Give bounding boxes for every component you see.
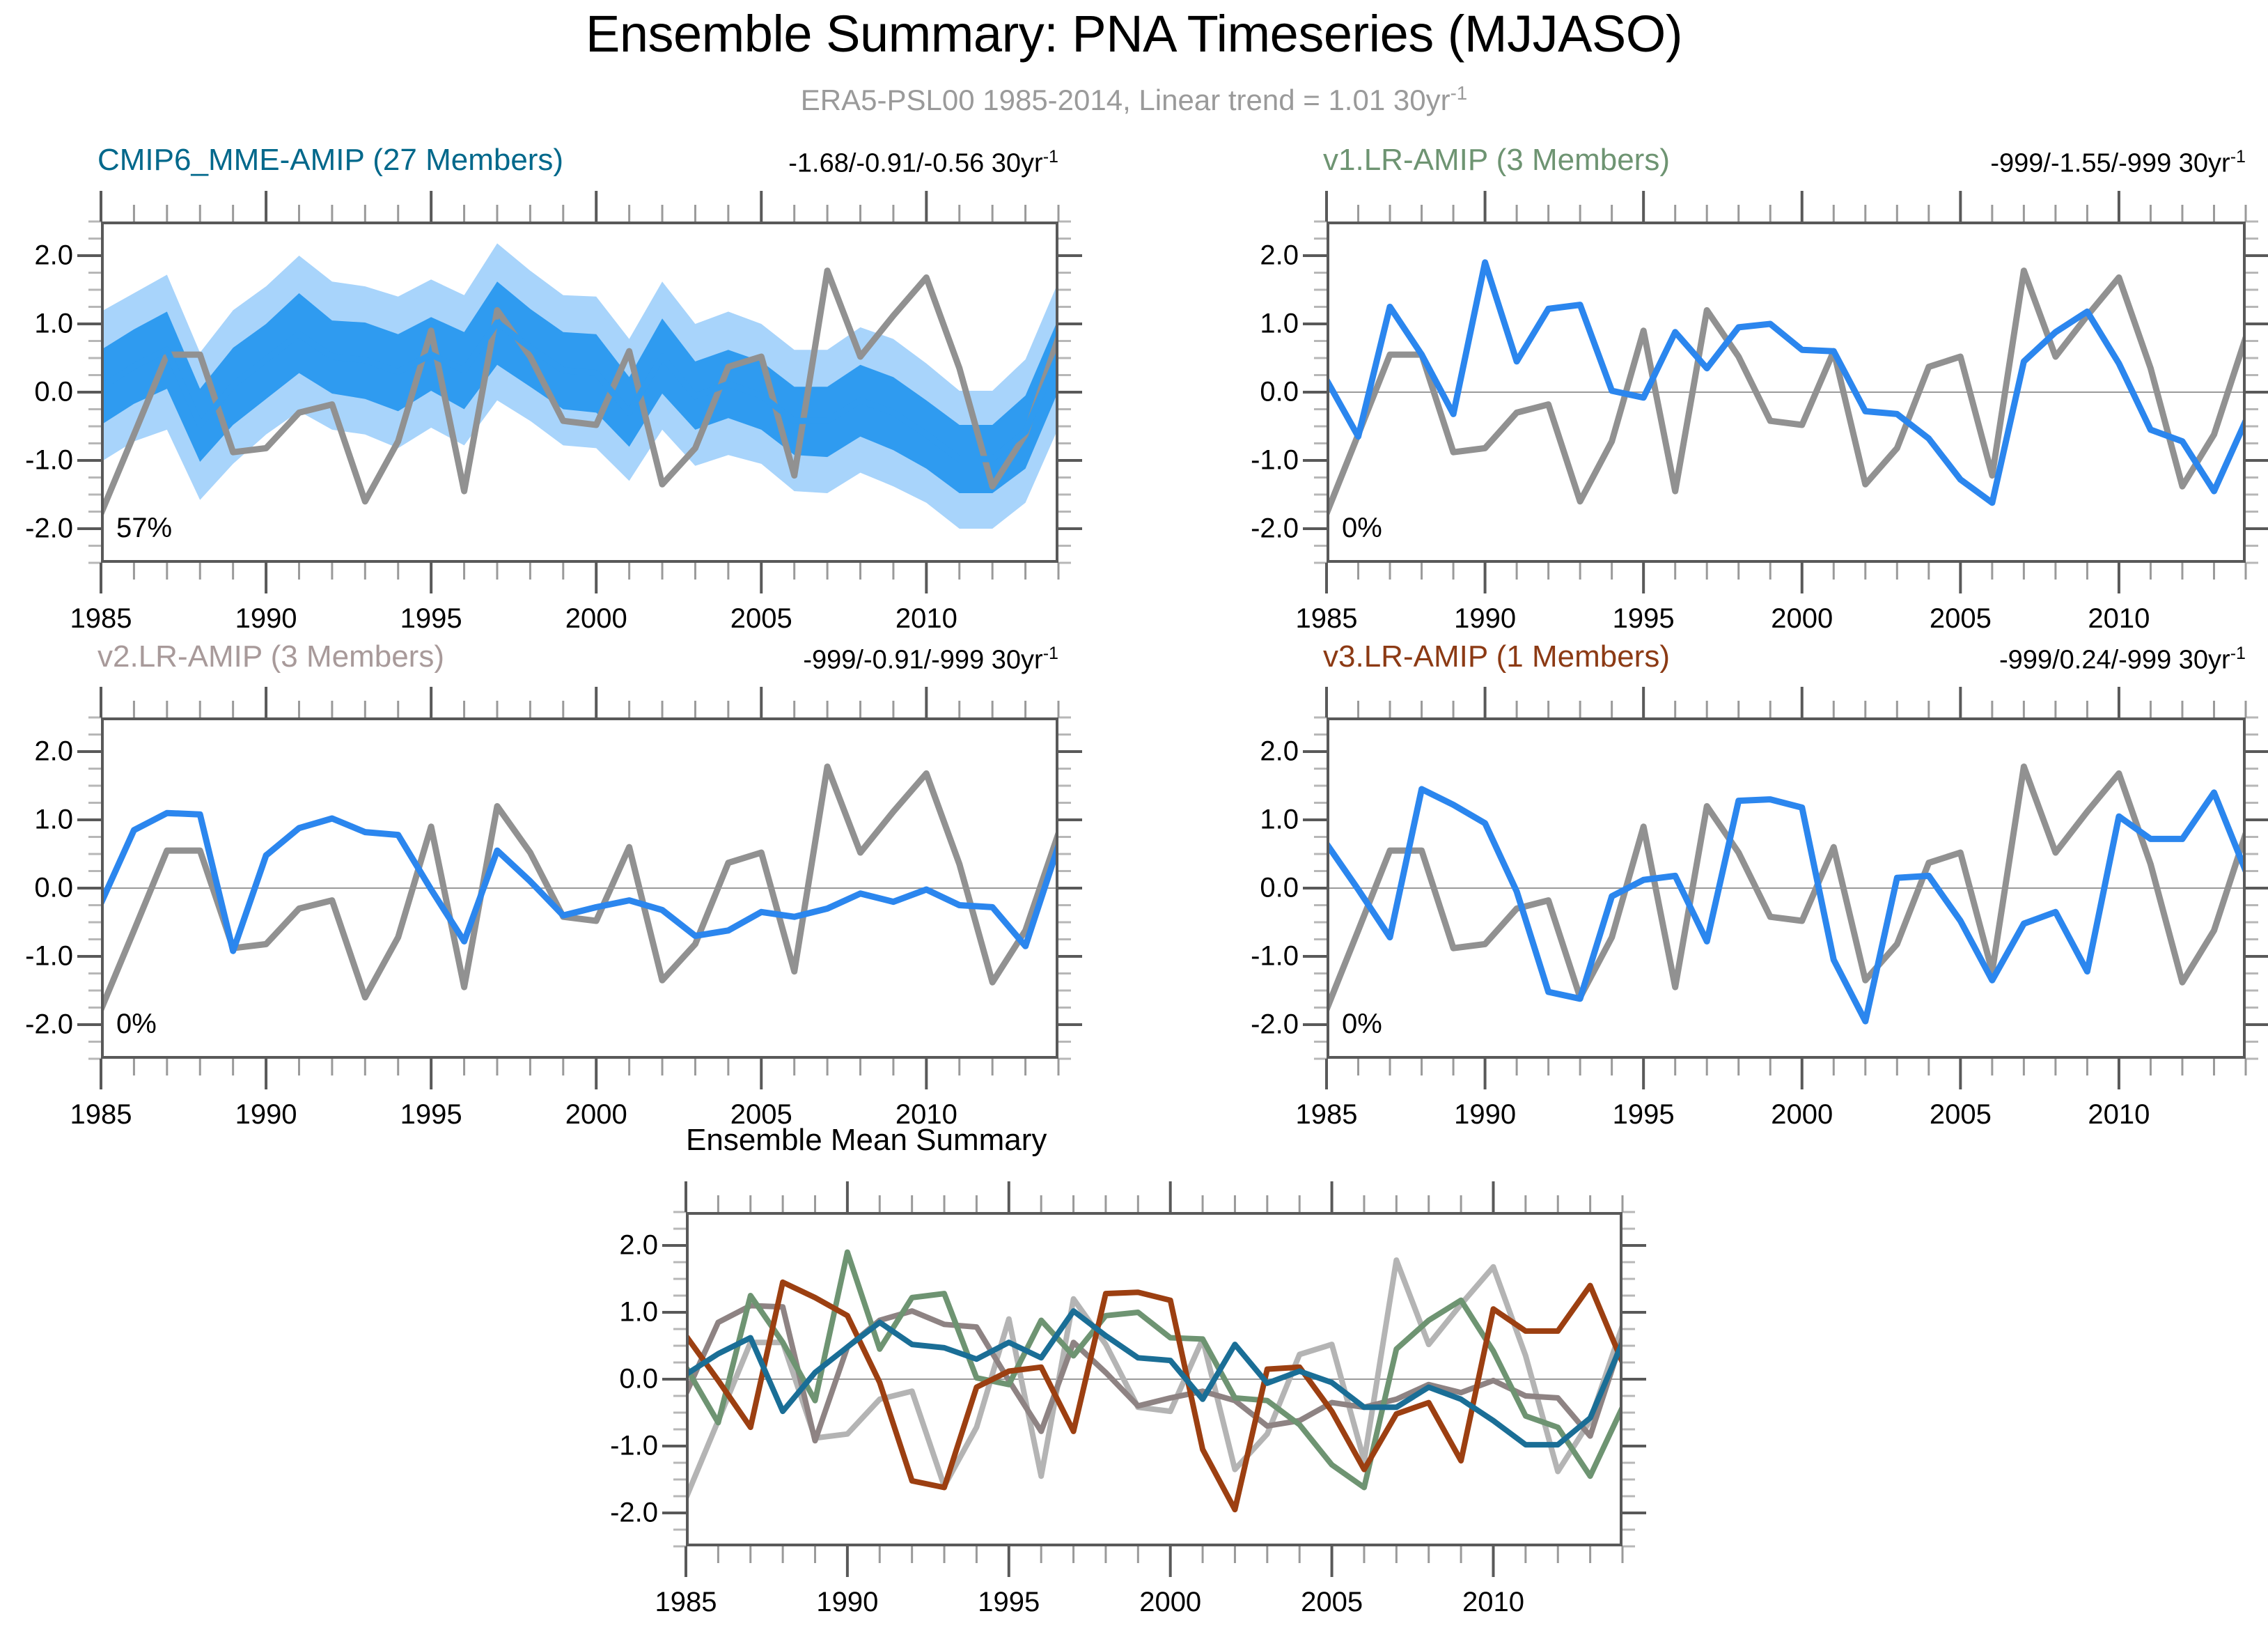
x-axis-tick-label: 1985: [655, 1587, 717, 1618]
figure-canvas: Ensemble Summary: PNA Timeseries (MJJASO…: [0, 0, 2268, 1639]
plot-frame-ensemble-mean-summary: [686, 1212, 1622, 1546]
panel-ensemble-mean-summary: Ensemble Mean Summary2.01.00.0-1.0-2.019…: [0, 0, 2268, 1639]
summary-panel-title: Ensemble Mean Summary: [686, 1123, 1047, 1158]
x-axis-tick-label: 2005: [1301, 1587, 1363, 1618]
x-axis-tick-label: 2000: [1139, 1587, 1201, 1618]
y-axis-tick-label: 1.0: [581, 1297, 658, 1328]
x-axis-tick-label: 2010: [1462, 1587, 1524, 1618]
y-axis-tick-label: -2.0: [581, 1498, 658, 1529]
y-axis-tick-label: 2.0: [581, 1230, 658, 1261]
y-axis-tick-label: -1.0: [581, 1431, 658, 1462]
x-axis-tick-label: 1990: [816, 1587, 878, 1618]
x-axis-tick-label: 1995: [978, 1587, 1040, 1618]
y-axis-tick-label: 0.0: [581, 1364, 658, 1395]
